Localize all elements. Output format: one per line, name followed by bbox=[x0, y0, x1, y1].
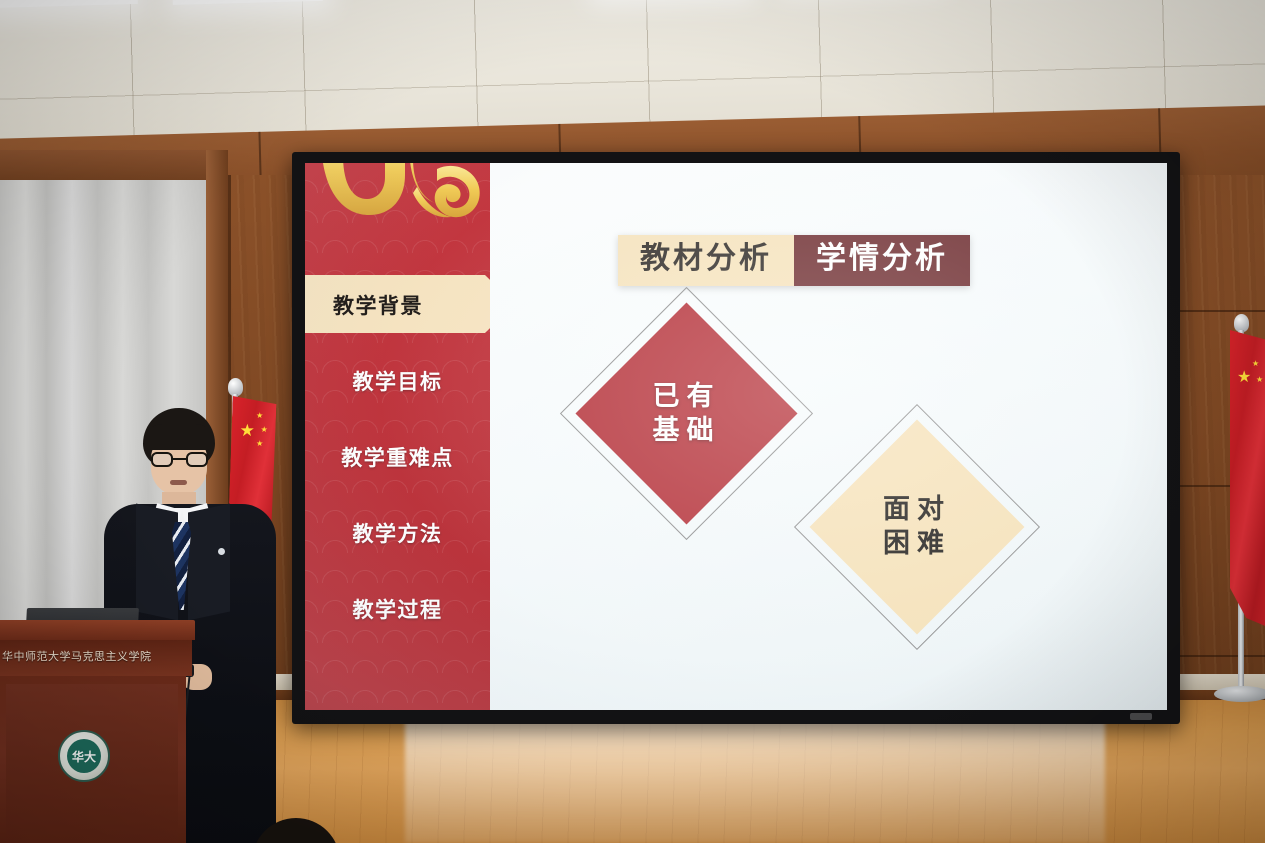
slide-nav-rail: 教学背景 教学目标 教学重难点 教学方法 教学过程 bbox=[305, 163, 490, 710]
diamond-facing-difficulties[interactable]: 面对 困难 bbox=[841, 451, 993, 603]
diamond-existing-foundation[interactable]: 已有 基础 bbox=[608, 335, 765, 492]
glasses-lens-left bbox=[151, 452, 173, 467]
presenter-fringe bbox=[144, 424, 214, 450]
university-emblem-text: 华大 bbox=[67, 739, 101, 773]
flag-star: ★ bbox=[1256, 376, 1263, 384]
diamond-line-2: 困难 bbox=[883, 530, 951, 558]
gold-cloud-ornament bbox=[313, 163, 489, 265]
diamond-line-2: 基础 bbox=[653, 417, 721, 445]
lapel-pin bbox=[218, 548, 225, 555]
diamond-line-1: 面对 bbox=[883, 496, 951, 524]
sidebar-item-label: 教学重难点 bbox=[341, 442, 454, 472]
flag-stand-base bbox=[1214, 686, 1265, 702]
sidebar-item-teaching-process[interactable]: 教学过程 bbox=[305, 571, 490, 647]
diamond-text: 已有 基础 bbox=[608, 335, 765, 492]
flag-cloth: ★ ★ ★ bbox=[1230, 330, 1265, 630]
lecture-hall-photo: 教学背景 教学目标 教学重难点 教学方法 教学过程 bbox=[0, 0, 1265, 843]
presenter-mouth bbox=[170, 480, 187, 485]
jacket-lapel-right bbox=[188, 504, 230, 621]
slide-tab-group: 教材分析 学情分析 bbox=[618, 235, 970, 286]
projection-screen[interactable]: 教学背景 教学目标 教学重难点 教学方法 教学过程 bbox=[305, 163, 1167, 710]
venue-plaque-text: 华中师范大学马克思主义学院 bbox=[2, 648, 192, 664]
glasses-lens-right bbox=[186, 452, 208, 467]
sidebar-item-label: 教学方法 bbox=[353, 518, 443, 548]
glasses-icon bbox=[151, 452, 208, 467]
sidebar-item-label: 教学过程 bbox=[353, 594, 443, 624]
flag-star: ★ bbox=[1252, 360, 1259, 368]
tab-textbook-analysis[interactable]: 教材分析 bbox=[618, 235, 794, 286]
sidebar-item-teaching-methods[interactable]: 教学方法 bbox=[305, 495, 490, 571]
lectern-top-surface bbox=[0, 620, 195, 640]
glasses-bridge bbox=[173, 458, 186, 460]
sidebar-item-teaching-objectives[interactable]: 教学目标 bbox=[305, 343, 490, 419]
flag-star: ★ bbox=[1237, 370, 1251, 386]
tab-student-analysis[interactable]: 学情分析 bbox=[794, 235, 970, 286]
sidebar-item-key-difficulties[interactable]: 教学重难点 bbox=[305, 419, 490, 495]
jacket-lapel-left bbox=[136, 504, 178, 621]
sidebar-item-teaching-background[interactable]: 教学背景 bbox=[305, 267, 490, 343]
diamond-line-1: 已有 bbox=[653, 383, 721, 411]
slide-nav-items: 教学背景 教学目标 教学重难点 教学方法 教学过程 bbox=[305, 267, 490, 647]
diamond-text: 面对 困难 bbox=[841, 451, 993, 603]
screen-sensor-icon bbox=[1130, 713, 1152, 720]
slide-content-area: 教材分析 学情分析 已有 基础 面对 困难 bbox=[490, 163, 1167, 710]
presentation-slide: 教学背景 教学目标 教学重难点 教学方法 教学过程 bbox=[305, 163, 1167, 710]
sidebar-item-label: 教学背景 bbox=[333, 290, 423, 320]
university-emblem: 华大 bbox=[58, 730, 110, 782]
sidebar-item-label: 教学目标 bbox=[353, 366, 443, 396]
